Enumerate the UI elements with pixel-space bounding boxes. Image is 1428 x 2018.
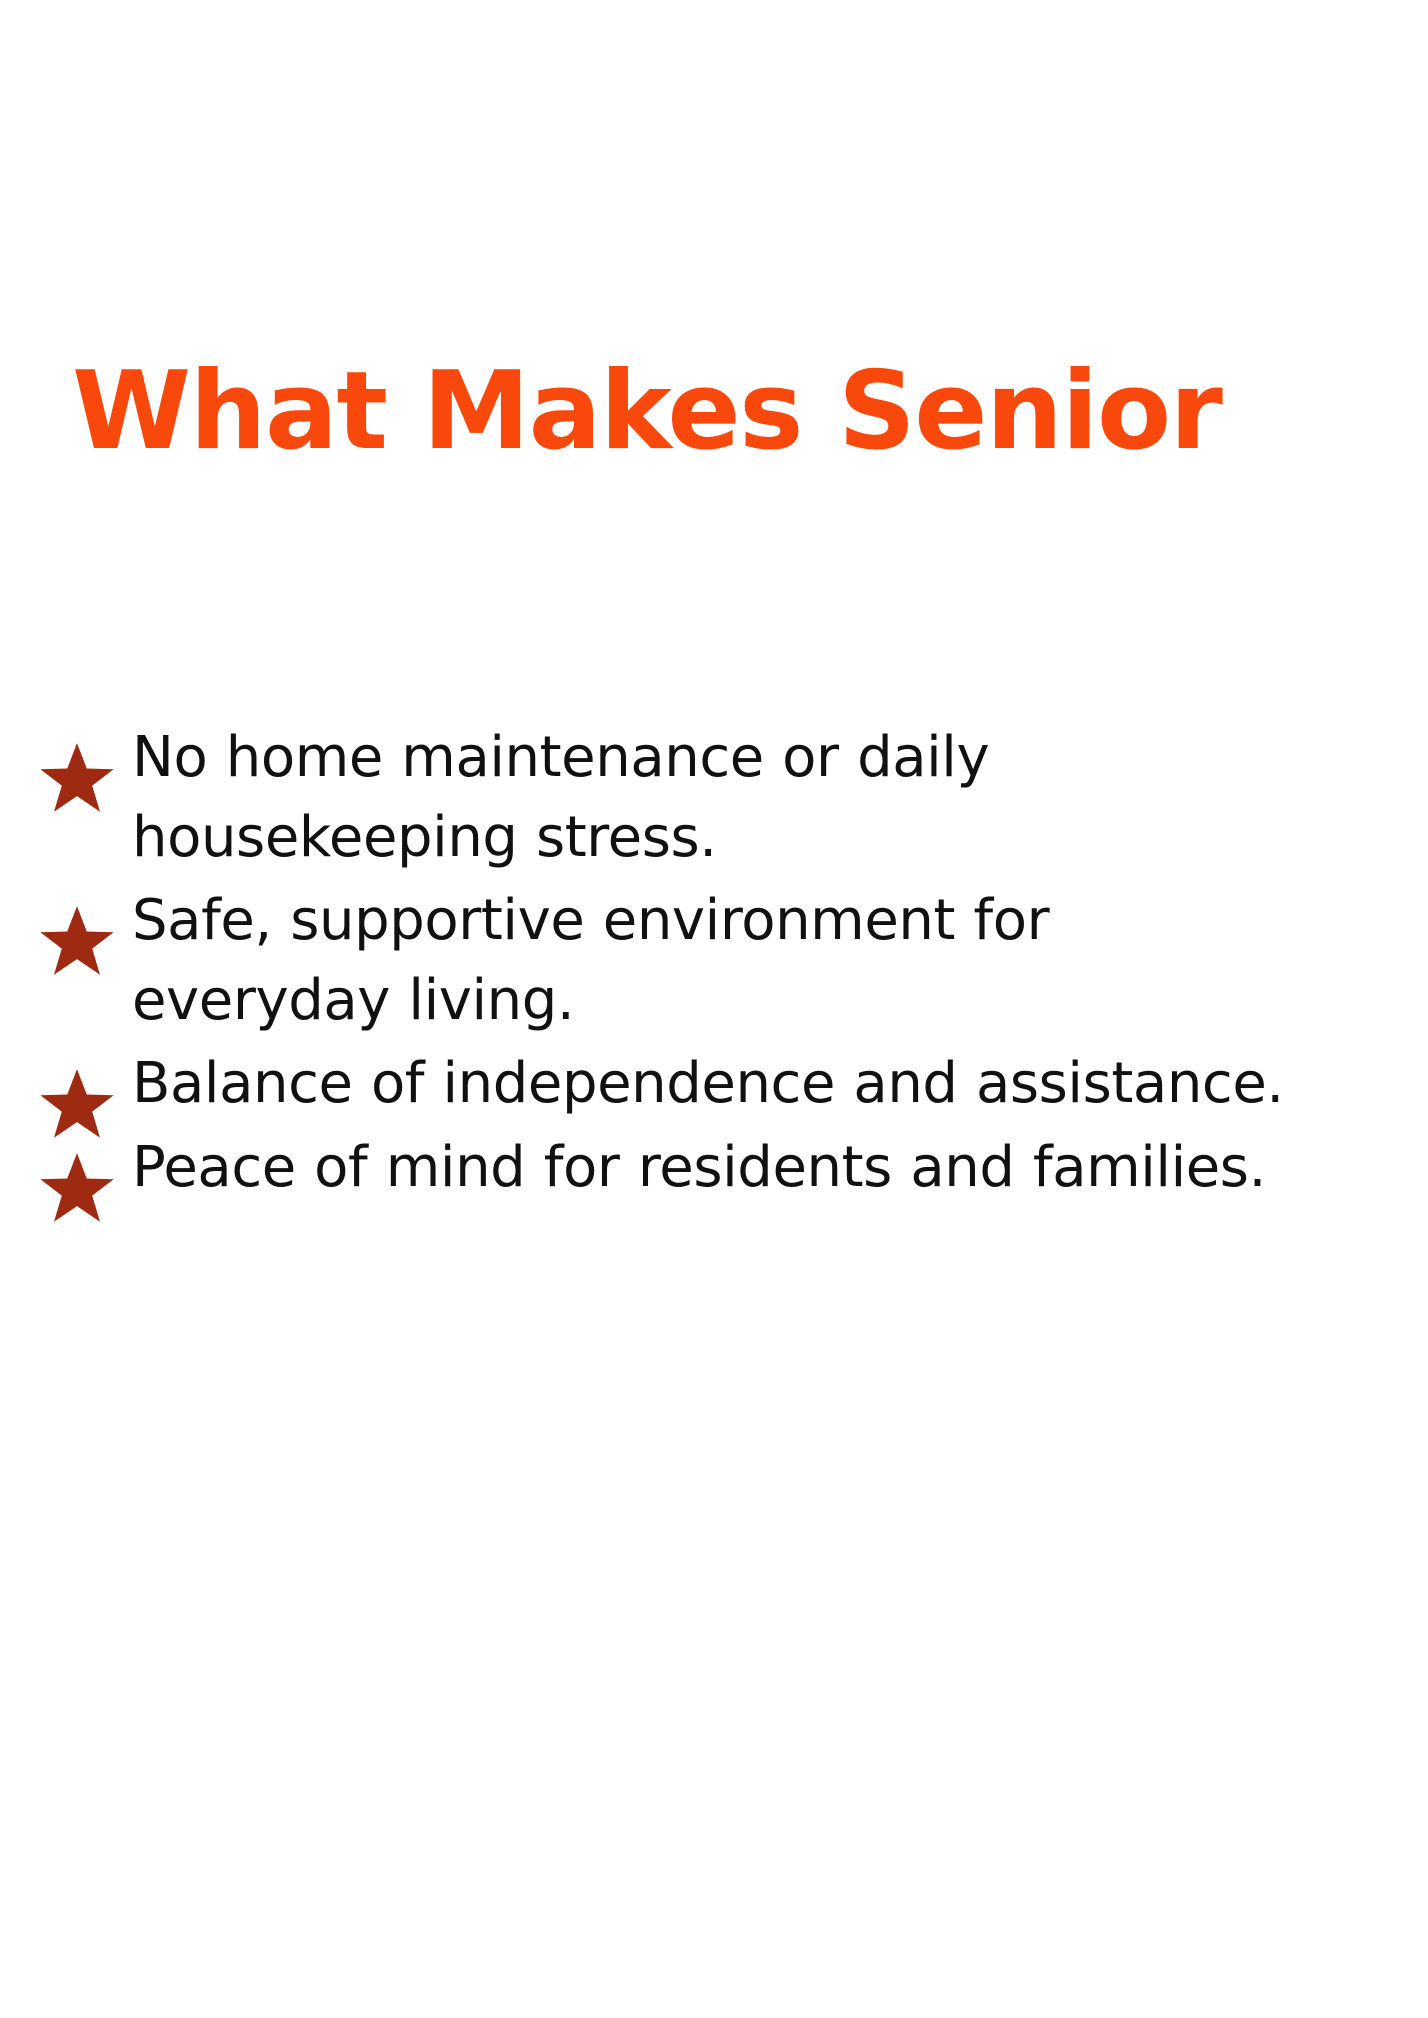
benefits-bullet-list: No home maintenance or daily housekeepin… (36, 718, 1428, 1211)
list-item: Balance of independence and assistance. (36, 1044, 1428, 1124)
title-block: What Makes Senior (72, 282, 1428, 543)
star-icon (38, 1150, 116, 1228)
list-item-label: Balance of independence and assistance. (132, 1044, 1428, 1124)
list-item: No home maintenance or daily housekeepin… (36, 718, 1192, 877)
page-title: What Makes Senior (72, 354, 1428, 471)
list-item-label: Safe, supportive environment for everyda… (132, 881, 1192, 1040)
star-icon (38, 740, 116, 818)
list-item-label: No home maintenance or daily housekeepin… (132, 718, 1192, 877)
star-icon (38, 903, 116, 981)
list-item-label: Peace of mind for residents and families… (132, 1128, 1428, 1208)
slide-canvas: What Makes Senior No home maintenance or… (0, 0, 1428, 2018)
list-item: Peace of mind for residents and families… (36, 1128, 1428, 1208)
list-item: Safe, supportive environment for everyda… (36, 881, 1192, 1040)
